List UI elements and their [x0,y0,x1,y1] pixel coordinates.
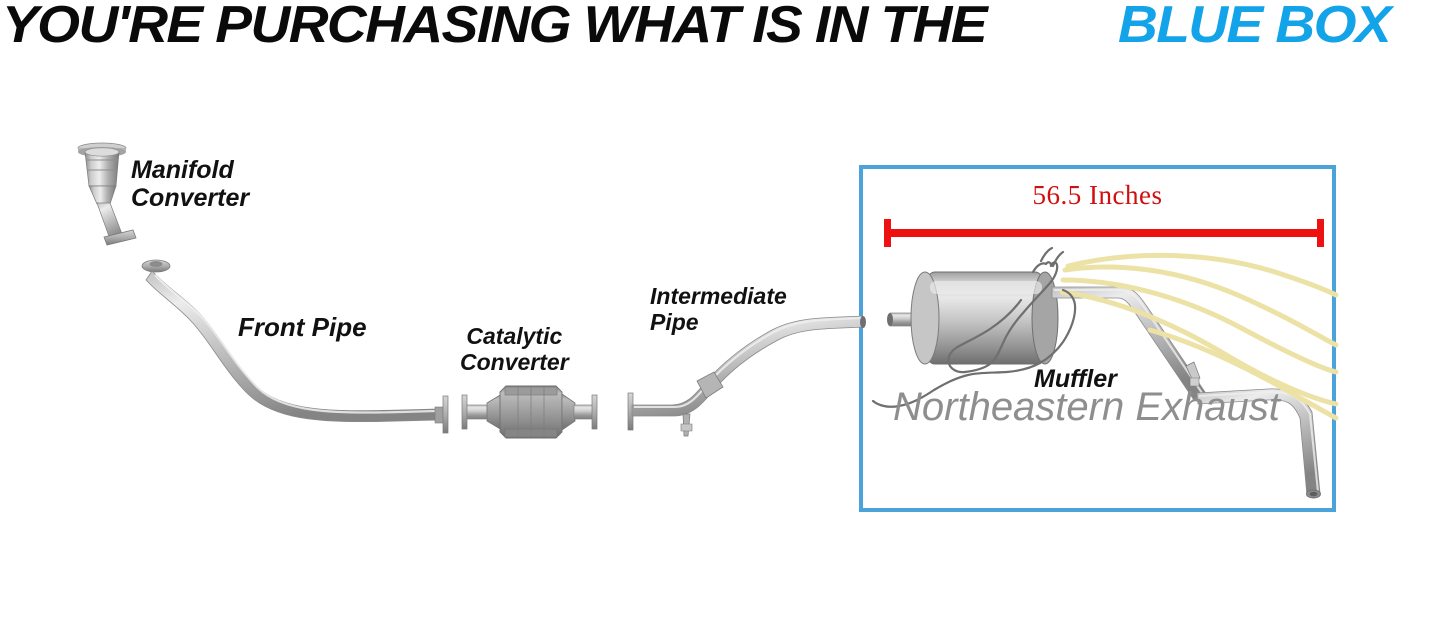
banner-main-text: YOU'RE PURCHASING WHAT IS IN THE [2,0,986,54]
label-catalytic-converter: Catalytic Converter [460,324,569,376]
dimension-line [884,229,1324,237]
manifold-converter-art [78,143,136,245]
dimension-cap-left [884,219,891,247]
banner-highlight-text: BLUE BOX [1118,0,1390,54]
dimension-label: 56.5 Inches [859,180,1336,211]
header-banner: YOU'RE PURCHASING WHAT IS IN THE BLUE BO… [0,0,1445,58]
exhaust-system-diagram: YOU'RE PURCHASING WHAT IS IN THE BLUE BO… [0,0,1445,619]
dimension-cap-right [1317,219,1324,247]
front-pipe-art [142,260,448,433]
label-muffler: Muffler [1034,365,1117,393]
catalytic-converter-art [462,386,597,438]
label-front-pipe: Front Pipe [238,313,367,342]
label-manifold-converter: Manifold Converter [131,156,249,212]
blue-box-highlight [859,165,1336,512]
label-intermediate-pipe: Intermediate Pipe [650,284,787,336]
